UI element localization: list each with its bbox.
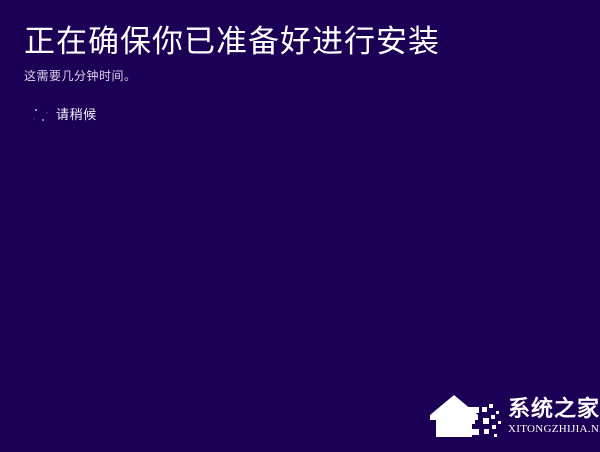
heading-block: 正在确保你已准备好进行安装 这需要几分钟时间。 (24, 22, 564, 84)
page-subtitle: 这需要几分钟时间。 (24, 62, 564, 84)
spinner-dot (33, 118, 35, 120)
spinner-dot (35, 109, 37, 111)
xitongzhijia-house-logo-icon (428, 391, 506, 443)
loading-dots-spinner-icon (30, 105, 52, 127)
watermark: 系统之家 XITONGZHIJIA.NET (428, 388, 596, 446)
status-row: 请稍候 (30, 104, 97, 128)
watermark-brand-url: XITONGZHIJIA.NET (508, 422, 600, 436)
page-title: 正在确保你已准备好进行安装 (24, 22, 564, 62)
spinner-dot (46, 112, 48, 114)
watermark-text: 系统之家 XITONGZHIJIA.NET (506, 398, 600, 436)
windows-setup-screen: 正在确保你已准备好进行安装 这需要几分钟时间。 请稍候 (0, 0, 600, 452)
spinner-dot (42, 119, 44, 121)
watermark-brand-name: 系统之家 (508, 398, 600, 422)
status-label: 请稍候 (56, 108, 97, 124)
